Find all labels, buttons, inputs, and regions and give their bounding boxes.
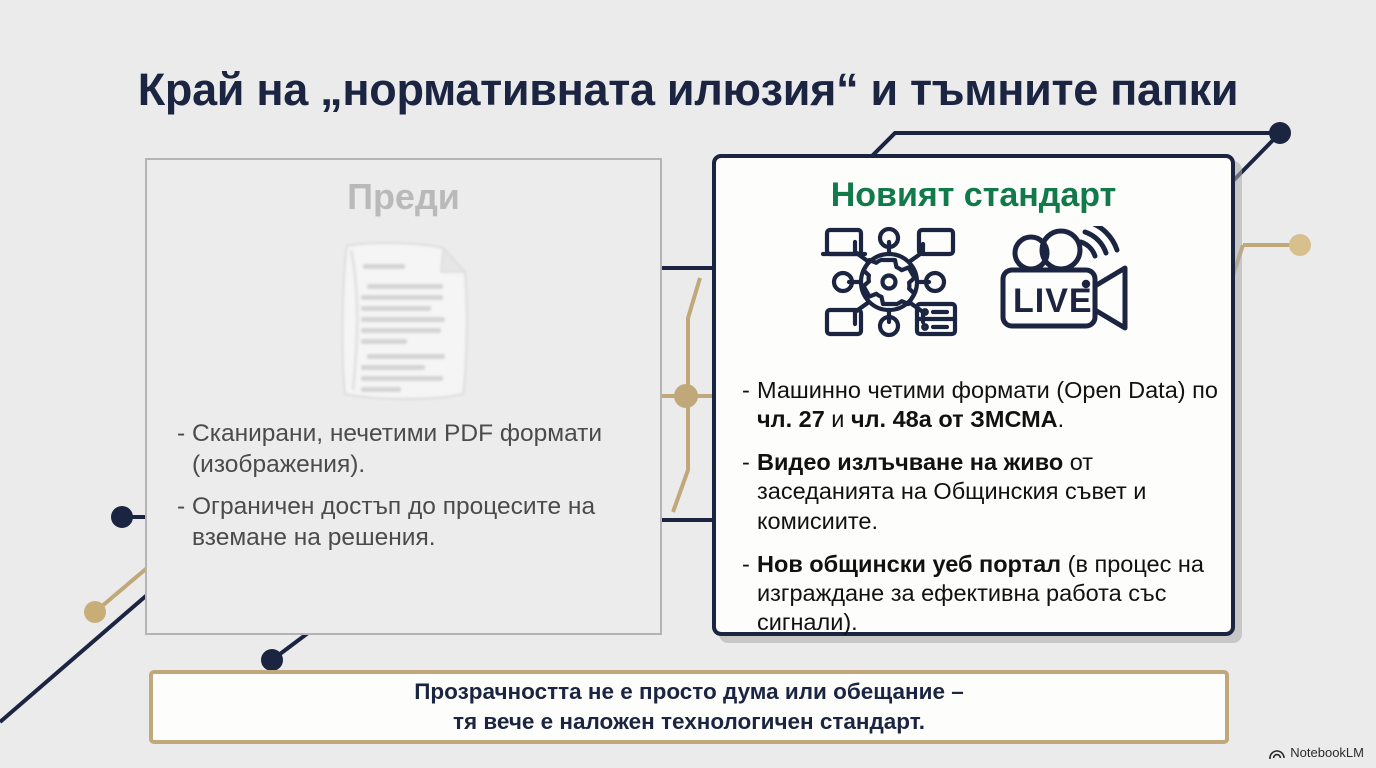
- bullet-dash: -: [177, 491, 192, 554]
- new-standard-heading: Новият стандарт: [716, 176, 1231, 215]
- list-item: - Нов общински уеб портал (в процес на и…: [742, 550, 1224, 637]
- notebooklm-watermark: NotebookLM: [1269, 745, 1364, 760]
- banner-line-2: тя вече е наложен технологичен стандарт.: [453, 707, 925, 737]
- bullet-dash: -: [742, 448, 757, 535]
- bullet-text: Сканирани, нечетими PDF формати (изображ…: [192, 418, 637, 481]
- decor-dot-navy-bottom: [261, 649, 283, 671]
- bullet-dash: -: [177, 418, 192, 481]
- bullet-dash: -: [742, 376, 757, 434]
- live-label: LIVE: [1013, 282, 1093, 320]
- banner-line-1: Прозрачността не е просто дума или обеща…: [414, 677, 964, 707]
- new-standard-bullet-list: - Машинно четими формати (Open Data) по …: [742, 376, 1224, 651]
- list-item: - Видео излъчване на живо от заседанията…: [742, 448, 1224, 535]
- list-item: - Машинно четими формати (Open Data) по …: [742, 376, 1224, 434]
- decor-dot-navy-left: [111, 506, 133, 528]
- summary-banner: Прозрачността не е просто дума или обеща…: [149, 670, 1229, 744]
- slide-canvas: Край на „нормативната илюзия“ и тъмните …: [0, 0, 1376, 768]
- api-network-gear-icon: [813, 226, 965, 338]
- bullet-text: Ограничен достъп до процесите на вземане…: [192, 491, 637, 554]
- new-standard-panel: Новият стандарт: [712, 154, 1235, 636]
- before-bullet-list: - Сканирани, нечетими PDF формати (изобр…: [177, 418, 637, 563]
- before-panel: Преди: [145, 158, 662, 635]
- bullet-text: Нов общински уеб портал (в процес на изг…: [757, 550, 1224, 637]
- bullet-text: Видео излъчване на живо от заседанията н…: [757, 448, 1224, 535]
- list-item: - Сканирани, нечетими PDF формати (изобр…: [177, 418, 637, 481]
- before-heading: Преди: [147, 176, 660, 218]
- decor-dot-gold-center: [674, 384, 698, 408]
- decor-dot-gold-right: [1289, 234, 1311, 256]
- bullet-dash: -: [742, 550, 757, 637]
- new-standard-icon-row: LIVE: [716, 226, 1231, 338]
- decor-dot-gold-left: [84, 601, 106, 623]
- live-video-camera-icon: LIVE: [995, 226, 1135, 338]
- watermark-label: NotebookLM: [1290, 745, 1364, 760]
- notebooklm-logo-icon: [1269, 746, 1285, 759]
- bullet-text: Машинно четими формати (Open Data) по чл…: [757, 376, 1224, 434]
- list-item: - Ограничен достъп до процесите на взема…: [177, 491, 637, 554]
- scanned-document-icon: [331, 238, 479, 406]
- slide-title: Край на „нормативната илюзия“ и тъмните …: [0, 64, 1376, 116]
- decor-dot-navy-topright: [1269, 122, 1291, 144]
